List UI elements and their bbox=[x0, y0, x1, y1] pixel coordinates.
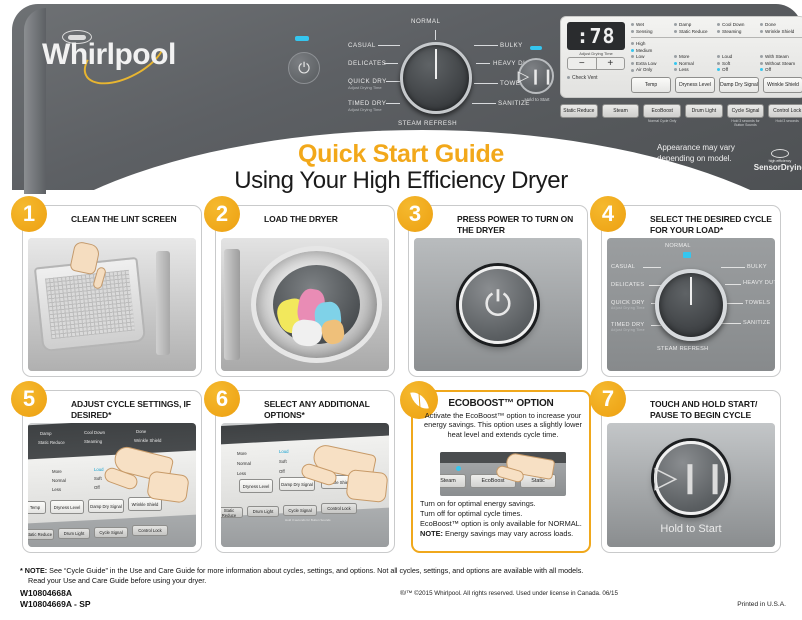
dial-label-timeddry-main: TIMED DRY bbox=[348, 100, 386, 107]
power-led-indicator bbox=[295, 36, 309, 41]
step-photo-2 bbox=[221, 238, 389, 371]
temp-medium: Medium bbox=[631, 48, 674, 55]
copyright-text: ®/™ ©2015 Whirlpool. All rights reserved… bbox=[400, 590, 700, 597]
step-card-2: 2 LOAD THE DRYER bbox=[215, 205, 395, 377]
ecoboost-line-1: Turn on for optimal energy savings. bbox=[420, 499, 588, 509]
s5-temp-button[interactable]: Temp bbox=[28, 501, 46, 514]
s5-status-cool-down: Cool Down bbox=[84, 430, 105, 435]
step-title-7: TOUCH AND HOLD START/ PAUSE TO BEGIN CYC… bbox=[650, 399, 774, 420]
model-number-2: W10804669A - SP bbox=[20, 599, 91, 610]
footer-note-text: See “Cycle Guide” in the Use and Care Gu… bbox=[47, 566, 583, 575]
step-title-4: SELECT THE DESIRED CYCLE FOR YOUR LOAD* bbox=[650, 214, 774, 235]
step-card-6: 6 SELECT ANY ADDITIONAL OPTIONS* More No… bbox=[215, 390, 395, 553]
steam-button[interactable]: Steam bbox=[602, 104, 640, 118]
s5-static-reduce-button[interactable]: Static Reduce bbox=[28, 529, 54, 540]
lint-screen-mesh bbox=[45, 269, 135, 339]
status-wet: Wet bbox=[631, 21, 674, 28]
drum-light-caption bbox=[685, 119, 723, 127]
step-card-1: 1 CLEAN THE LINT SCREEN bbox=[22, 205, 202, 377]
estimated-time-display: :78 bbox=[567, 22, 625, 50]
ecoboost-button[interactable]: EcoBoost bbox=[643, 104, 681, 118]
s6-dryness-less: Less bbox=[237, 471, 246, 476]
s6-cycle-signal-caption: Hold 3 seconds for Button Sounds bbox=[285, 518, 331, 522]
hold-to-start-label: Hold to Start bbox=[607, 523, 775, 535]
damp-soft: Soft bbox=[717, 61, 760, 68]
wrinkle-with-steam: With Steam bbox=[760, 54, 802, 61]
cycle-signal-button[interactable]: Cycle Signal bbox=[727, 104, 765, 118]
ecoboost-body: Activate the EcoBoost™ option to increas… bbox=[419, 411, 587, 439]
wrinkle-shield-button[interactable]: Wrinkle Shield bbox=[763, 77, 802, 93]
wrinkle-without-steam: Without Steam bbox=[760, 61, 802, 68]
status-cool-down: Cool Down bbox=[717, 21, 760, 28]
display-module: :78 Adjust Drying Time − + Check Vent We… bbox=[560, 16, 802, 98]
dial-label-quickdry-sub: Adjust Drying Time bbox=[348, 85, 387, 90]
s4-dial-label-towels: TOWELS bbox=[745, 300, 770, 306]
s6-drum-light-button[interactable]: Drum Light bbox=[247, 506, 279, 517]
step-card-7: 7 TOUCH AND HOLD START/ PAUSE TO BEGIN C… bbox=[601, 390, 781, 553]
ecoboost-note: NOTE: Energy savings may vary across loa… bbox=[420, 529, 588, 539]
dial-label-timeddry: TIMED DRY Adjust Drying Time bbox=[348, 100, 386, 112]
s5-dryness-button[interactable]: Dryness Level bbox=[50, 500, 84, 514]
power-button-large[interactable]: ⏻ bbox=[459, 266, 537, 344]
dryness-level-button[interactable]: Dryness Level bbox=[675, 77, 715, 93]
cycle-selector-dial[interactable] bbox=[400, 42, 472, 114]
start-pause-caption: Hold to Start bbox=[510, 97, 564, 102]
s4-dial-label-bulky: BULKY bbox=[747, 264, 767, 270]
s4-dial-label-timeddry: TIMED DRY Adjust Drying Time bbox=[611, 322, 645, 332]
s5-control-lock-button[interactable]: Control Lock bbox=[132, 525, 168, 536]
control-lock-caption: Hold 3 seconds bbox=[768, 119, 802, 127]
step-title-1: CLEAN THE LINT SCREEN bbox=[71, 214, 195, 225]
dial-label-quickdry-main: QUICK DRY bbox=[348, 78, 387, 85]
hand-lower-graphic bbox=[346, 469, 389, 503]
model-number-1: W10804668A bbox=[20, 588, 91, 599]
adjust-time-stepper[interactable]: − + bbox=[567, 57, 625, 70]
dial-label-casual: CASUAL bbox=[348, 42, 376, 49]
step-photo-4: NORMAL CASUAL DELICATES QUICK DRY Adjust… bbox=[607, 238, 775, 371]
step-title-6: SELECT ANY ADDITIONAL OPTIONS* bbox=[264, 399, 388, 420]
dial-pointer-large bbox=[690, 277, 692, 305]
s5-dryness-normal: Normal bbox=[52, 478, 66, 483]
s5-status-static-reduce: Static Reduce bbox=[38, 440, 65, 445]
damp-dry-options: Loud Soft Off bbox=[717, 41, 760, 74]
dryness-options: More Normal Less bbox=[674, 41, 717, 74]
step-badge-7: 7 bbox=[590, 381, 626, 417]
status-divider bbox=[631, 37, 802, 38]
ecoboost-line-3: EcoBoost™ option is only available for N… bbox=[420, 519, 588, 529]
ecoboost-button-photo: Steam EcoBoost Static bbox=[440, 452, 566, 496]
s5-status-done: Done bbox=[136, 429, 146, 434]
temp-high: High bbox=[631, 41, 674, 48]
damp-off: Off bbox=[717, 67, 760, 74]
ecoboost-detail-lines: Turn on for optimal energy savings. Turn… bbox=[420, 499, 588, 539]
step-title-2: LOAD THE DRYER bbox=[264, 214, 388, 225]
page-title: Quick Start Guide bbox=[0, 140, 802, 169]
s6-cycle-signal-button[interactable]: Cycle Signal bbox=[283, 505, 317, 516]
start-pause-button-large[interactable]: ▷❙❙ bbox=[654, 441, 728, 515]
hand-lower-graphic bbox=[146, 470, 190, 503]
adjust-drying-time-caption: Adjust Drying Time bbox=[567, 51, 625, 56]
temp-button[interactable]: Temp bbox=[631, 77, 671, 93]
damp-dry-signal-button[interactable]: Damp Dry Signal bbox=[719, 77, 759, 93]
dryer-door-left bbox=[224, 249, 240, 361]
temp-options: High Medium Low Extra Low Air Only bbox=[631, 41, 674, 74]
step-photo-1 bbox=[28, 238, 196, 371]
s6-control-lock-button[interactable]: Control Lock bbox=[321, 503, 357, 514]
eco-photo-steam-button[interactable]: Steam bbox=[440, 474, 466, 488]
step-badge-1: 1 bbox=[11, 196, 47, 232]
dial-pointer bbox=[435, 49, 437, 79]
start-pause-led-indicator bbox=[530, 46, 542, 50]
dial-label-steamrefresh: STEAM REFRESH bbox=[398, 120, 457, 127]
status-done: Done bbox=[760, 21, 802, 28]
static-reduce-caption bbox=[560, 119, 598, 127]
status-static-reduce: Static Reduce bbox=[674, 28, 717, 35]
ecoboost-note-text: Energy savings may vary across loads. bbox=[443, 529, 573, 538]
s4-dial-label-quickdry: QUICK DRY Adjust Drying Time bbox=[611, 300, 645, 310]
temp-extra-low: Extra Low bbox=[631, 61, 674, 68]
dial-label-timeddry-sub: Adjust Drying Time bbox=[348, 107, 386, 112]
s6-damp-off: Off bbox=[279, 469, 285, 474]
dial-label-delicates: DELICATES bbox=[348, 60, 386, 67]
step-card-3: 3 PRESS POWER TO TURN ON THE DRYER ⏻ bbox=[408, 205, 588, 377]
drum-light-button[interactable]: Drum Light bbox=[685, 104, 723, 118]
wrinkle-off: Off bbox=[760, 67, 802, 74]
status-steaming: Steaming bbox=[717, 28, 760, 35]
status-damp: Damp bbox=[674, 21, 717, 28]
check-vent-label: Check Vent bbox=[572, 75, 598, 81]
status-indicator-grid: Wet Damp Cool Down Done Sensing Static R… bbox=[631, 21, 802, 40]
console-bottom-button-captions: Normal Cycle Only Hold 3 seconds for But… bbox=[560, 119, 802, 127]
s5-damp-soft: Soft bbox=[94, 476, 102, 481]
ecoboost-heading: ECOBOOST™ OPTION bbox=[413, 398, 589, 409]
dial-label-bulky: BULKY bbox=[500, 42, 523, 49]
increase-time-button[interactable]: + bbox=[597, 58, 625, 69]
s5-dryness-less: Less bbox=[52, 487, 61, 492]
status-row: Wet Damp Cool Down Done bbox=[631, 21, 802, 28]
step-photo-5: Damp Cool Down Done Static Reduce Steami… bbox=[28, 423, 196, 547]
s4-dial-label-steamrefresh: STEAM REFRESH bbox=[657, 346, 708, 352]
wrinkle-shield-options: With Steam Without Steam Off bbox=[760, 41, 802, 74]
ecoboost-note-label: NOTE: bbox=[420, 529, 443, 538]
dial-label-normal: NORMAL bbox=[411, 18, 440, 25]
step-badge-4: 4 bbox=[590, 196, 626, 232]
status-sensing: Sensing bbox=[631, 28, 674, 35]
s5-damp-dry-button[interactable]: Damp Dry Signal bbox=[88, 499, 124, 513]
step-badge-5: 5 bbox=[11, 381, 47, 417]
console-bottom-buttons[interactable]: Static Reduce Steam EcoBoost Drum Light … bbox=[560, 104, 802, 118]
ecoboost-caption: Normal Cycle Only bbox=[643, 119, 681, 127]
ecoboost-info-card: ECOBOOST™ OPTION Activate the EcoBoost™ … bbox=[411, 390, 591, 553]
s4-dial-label-heavyduty: HEAVY DUTY bbox=[743, 280, 775, 287]
s5-dryness-more: More bbox=[52, 469, 62, 474]
option-indicator-columns: High Medium Low Extra Low Air Only More … bbox=[631, 41, 802, 74]
whirlpool-logo: Whirlpool bbox=[40, 26, 220, 76]
s6-dryness-more: More bbox=[237, 451, 247, 456]
cycle-signal-caption: Hold 3 seconds for Button Sounds bbox=[727, 119, 765, 127]
dryness-more: More bbox=[674, 54, 717, 61]
decrease-time-button[interactable]: − bbox=[568, 58, 597, 69]
status-row: Sensing Static Reduce Steaming Wrinkle S… bbox=[631, 28, 802, 35]
s5-cycle-signal-button[interactable]: Cycle Signal bbox=[94, 527, 128, 538]
model-numbers: W10804668A W10804669A - SP bbox=[20, 588, 91, 610]
s6-damp-soft: Soft bbox=[279, 459, 287, 464]
dial-label-quickdry: QUICK DRY Adjust Drying Time bbox=[348, 78, 387, 90]
option-buttons-row[interactable]: Temp Dryness Level Damp Dry Signal Wrink… bbox=[631, 77, 802, 93]
check-vent-indicator: Check Vent bbox=[567, 75, 598, 81]
s5-damp-off: Off bbox=[94, 485, 100, 490]
s4-dial-label-normal: NORMAL bbox=[665, 243, 691, 249]
ecoboost-led bbox=[456, 466, 461, 471]
s5-damp-loud: Loud bbox=[94, 467, 104, 472]
step-badge-6: 6 bbox=[204, 381, 240, 417]
s5-status-steaming: Steaming bbox=[84, 439, 102, 444]
step-photo-6: More Normal Less Loud Soft Off With Stea… bbox=[221, 423, 389, 547]
step-card-4: 4 SELECT THE DESIRED CYCLE FOR YOUR LOAD… bbox=[601, 205, 781, 377]
cycle-dial-large[interactable] bbox=[655, 269, 727, 341]
footer-note-line2: Read your Use and Care Guide before usin… bbox=[20, 576, 782, 586]
status-wrinkle-shield: Wrinkle Shield bbox=[760, 28, 802, 35]
page-subtitle: Using Your High Efficiency Dryer bbox=[0, 167, 802, 195]
printed-in-label: Printed in U.S.A. bbox=[737, 601, 786, 608]
step-badge-2: 2 bbox=[204, 196, 240, 232]
step-photo-3: ⏻ bbox=[414, 238, 582, 371]
s5-status-wrinkle-shield: Wrinkle Shield bbox=[134, 438, 161, 443]
temp-air-only: Air Only bbox=[631, 67, 674, 74]
s4-normal-led bbox=[683, 252, 691, 258]
start-pause-button[interactable]: ▷❙❙ bbox=[518, 58, 554, 94]
s6-static-reduce-button[interactable]: Static Reduce bbox=[221, 507, 243, 518]
step-photo-7: ▷❙❙ Hold to Start bbox=[607, 423, 775, 547]
s6-dryness-normal: Normal bbox=[237, 461, 251, 466]
s5-drum-light-button[interactable]: Drum Light bbox=[58, 528, 90, 539]
s6-dryness-button[interactable]: Dryness Level bbox=[239, 479, 273, 493]
footer-note-label: * NOTE: bbox=[20, 566, 47, 575]
s6-damp-loud: Loud bbox=[279, 449, 289, 454]
check-vent-led bbox=[567, 76, 570, 79]
s4-dial-label-delicates: DELICATES bbox=[611, 282, 644, 288]
s4-dial-label-casual: CASUAL bbox=[611, 264, 635, 270]
step-card-5: 5 ADJUST CYCLE SETTINGS, IF DESIRED* Dam… bbox=[22, 390, 202, 553]
step-title-5: ADJUST CYCLE SETTINGS, IF DESIRED* bbox=[71, 399, 195, 420]
s5-status-damp: Damp bbox=[40, 431, 51, 436]
s4-dial-label-sanitize: SANITIZE bbox=[743, 320, 771, 326]
damp-loud: Loud bbox=[717, 54, 760, 61]
dryness-less: Less bbox=[674, 67, 717, 74]
dryer-door-edge bbox=[156, 251, 170, 355]
temp-low: Low bbox=[631, 54, 674, 61]
power-button[interactable]: ⏻ bbox=[288, 52, 320, 84]
step-badge-3: 3 bbox=[397, 196, 433, 232]
cycle-selector-dial-group[interactable]: NORMAL CASUAL DELICATES QUICK DRY Adjust… bbox=[348, 18, 538, 128]
footer-note: * NOTE: See “Cycle Guide” in the Use and… bbox=[20, 566, 782, 585]
static-reduce-button[interactable]: Static Reduce bbox=[560, 104, 598, 118]
dryness-normal: Normal bbox=[674, 61, 717, 68]
ecoboost-line-2: Turn off for optimal cycle times. bbox=[420, 509, 588, 519]
control-lock-button[interactable]: Control Lock bbox=[768, 104, 802, 118]
steam-caption bbox=[602, 119, 640, 127]
step-title-3: PRESS POWER TO TURN ON THE DRYER bbox=[457, 214, 581, 235]
whirlpool-wordmark: Whirlpool bbox=[42, 38, 176, 72]
